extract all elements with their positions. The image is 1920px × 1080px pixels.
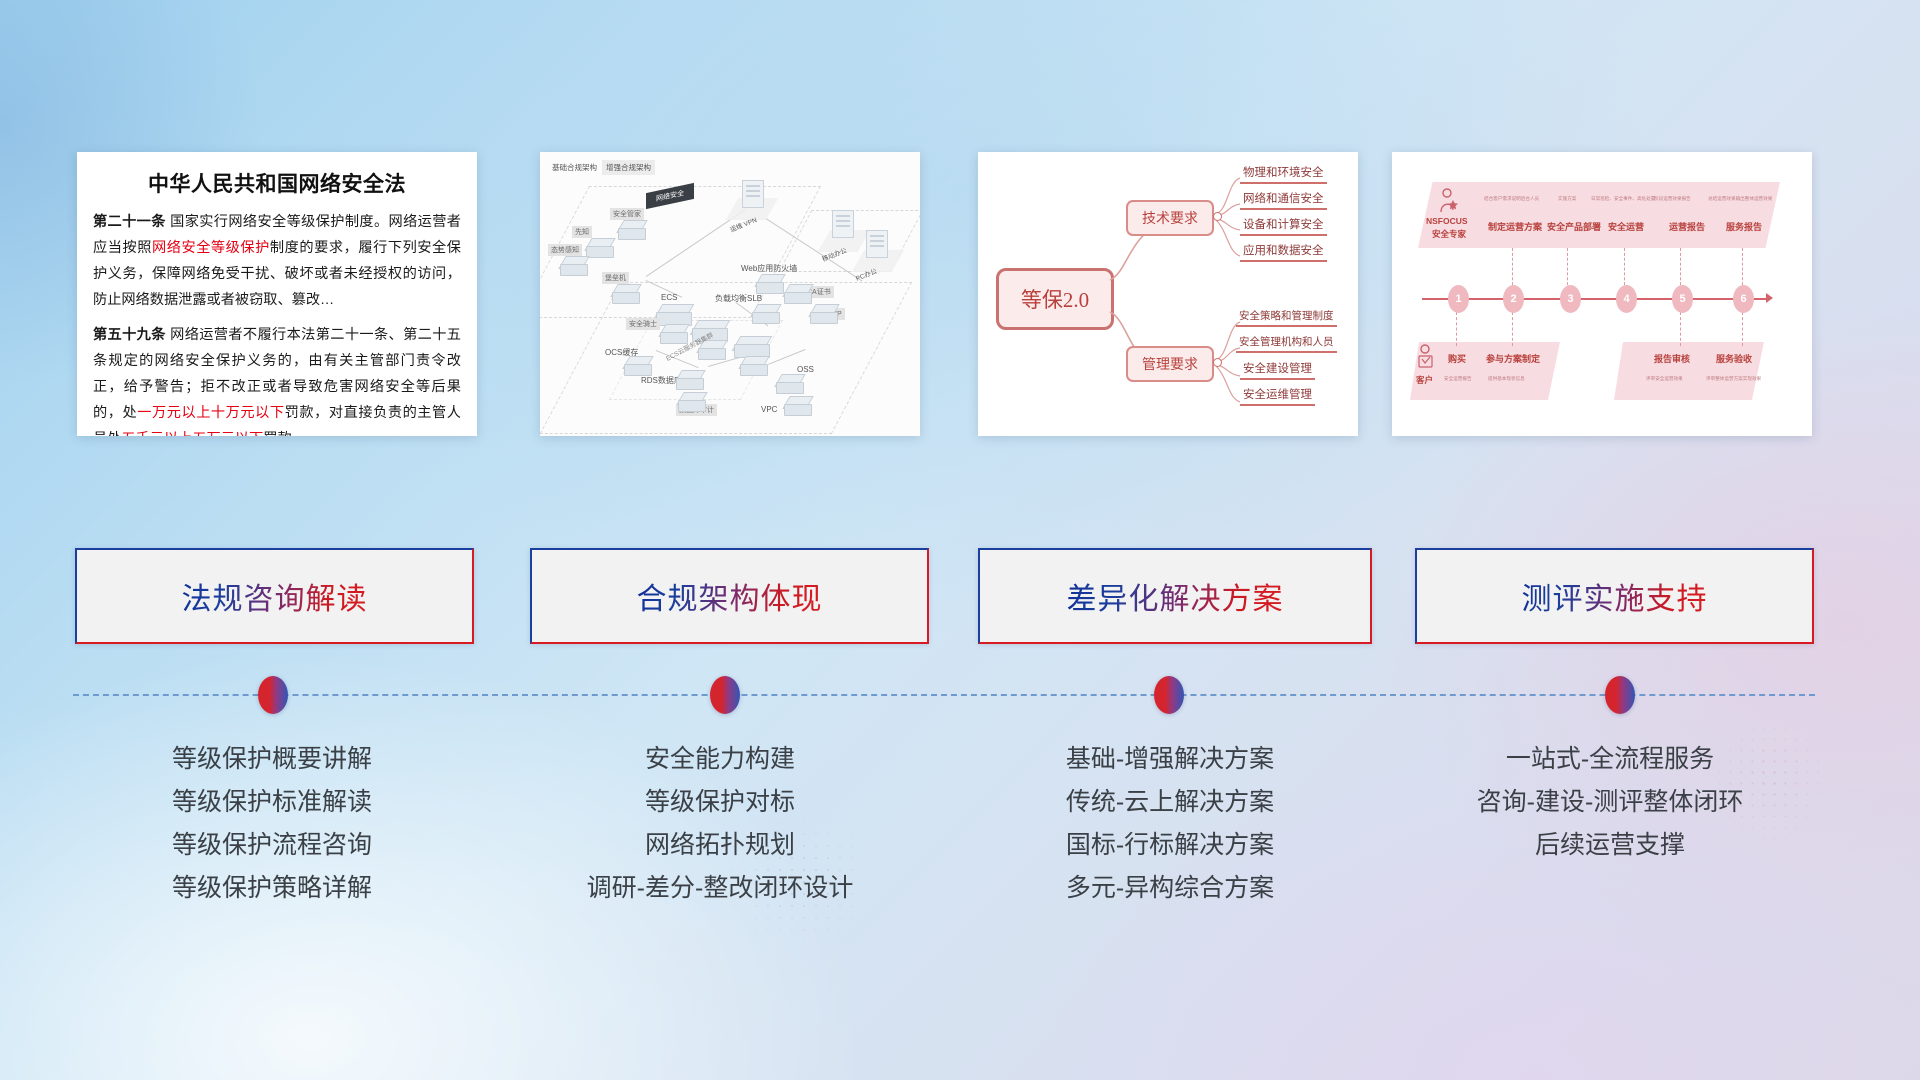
arch-node-cluster-d	[740, 356, 766, 376]
law-body: 第二十一条 国家实行网络安全等级保护制度。网络运营者应当按照网络安全等级保护制度…	[77, 210, 477, 436]
header-box-regulation-consulting[interactable]: 法规咨询解读	[75, 548, 474, 644]
list-item: 调研-差分-整改闭环设计	[510, 867, 930, 910]
header-box-assessment-support[interactable]: 测评实施支持	[1415, 548, 1814, 644]
mindmap: 等保2.0 技术要求 管理要求 物理和环境安全 网络和通信安全 设备和计算安全	[978, 152, 1358, 436]
arch-node-14	[784, 396, 810, 416]
header-label: 差异化解决方案	[1067, 574, 1284, 618]
flow-actor-name: NSFOCUS	[1426, 216, 1468, 226]
list-item: 多元-异构综合方案	[960, 867, 1380, 910]
flow-step-4: 4	[1616, 285, 1637, 313]
arch-label-3: 堡垒机	[602, 272, 629, 284]
timeline-dot-4	[1605, 676, 1635, 714]
flow-top-sub: 结合客户需求说明后台人员	[1484, 196, 1539, 202]
article-number-59: 第五十九条	[93, 327, 166, 343]
flow-bottom-sub: 提供基本现状信息	[1488, 376, 1525, 382]
column-list-1: 等级保护概要讲解 等级保护标准解读 等级保护流程咨询 等级保护策略详解	[62, 738, 482, 910]
arch-node-9	[756, 274, 782, 294]
flow-top-sub: 总结运营效果输出整体运营效果	[1708, 196, 1772, 202]
flow-bottom-sub: 评审整体运营方案实现效果	[1706, 376, 1761, 382]
list-item: 等级保护流程咨询	[62, 824, 482, 867]
timeline-dot-2	[710, 676, 740, 714]
list-item: 等级保护概要讲解	[62, 738, 482, 781]
flow-top-title: 运营报告	[1669, 220, 1705, 233]
header-label: 法规咨询解读	[182, 574, 368, 618]
arch-node-13	[776, 374, 802, 394]
flow-arrow-icon	[1766, 293, 1773, 303]
flow-actor-role: 安全专家	[1432, 228, 1466, 240]
flow-top-title: 安全运营	[1608, 220, 1644, 233]
flow-top-title: 安全产品部署	[1547, 220, 1601, 233]
flow-top-title: 服务报告	[1726, 220, 1762, 233]
list-item: 基础-增强解决方案	[960, 738, 1380, 781]
arch-node-12	[810, 304, 836, 324]
timeline-dashed-line	[73, 694, 1815, 696]
mindmap-leaf: 安全运维管理	[1240, 386, 1315, 406]
arch-node-11	[784, 284, 810, 304]
timeline-dot-3	[1154, 676, 1184, 714]
flow-bottom-sub: 安全运营报告	[1444, 376, 1472, 382]
column-list-4: 一站式-全流程服务 咨询-建设-测评整体闭环 后续运营支撑	[1400, 738, 1820, 867]
flow-step-6: 6	[1733, 285, 1754, 313]
arch-label-2: 态势感知	[548, 244, 582, 256]
flow-bottom-title: 参与方案制定	[1486, 352, 1540, 365]
arch-label-1: 先知	[572, 226, 592, 238]
law-seg-highlight: 五千元以上五万元以下	[121, 431, 263, 436]
mindmap-branch-management: 管理要求	[1126, 346, 1214, 382]
flow-top-title: 制定运营方案	[1488, 220, 1542, 233]
architecture-diagram: 基础合规架构 增强合规架构 网络安全 安全管家 先知 态势感知	[540, 152, 920, 436]
list-item: 咨询-建设-测评整体闭环	[1400, 781, 1820, 824]
law-seg: 罚款。	[263, 431, 306, 436]
card-dengbao-mindmap: 等保2.0 技术要求 管理要求 物理和环境安全 网络和通信安全 设备和计算安全	[978, 152, 1358, 436]
arch-node-8	[678, 392, 704, 412]
arch-node-2	[560, 256, 586, 276]
flow-step-5: 5	[1672, 285, 1693, 313]
list-item: 等级保护标准解读	[62, 781, 482, 824]
list-item: 等级保护策略详解	[62, 867, 482, 910]
timeline-dot-1	[258, 676, 288, 714]
mindmap-leaf: 应用和数据安全	[1240, 242, 1327, 262]
law-paragraph-59: 第五十九条 网络运营者不履行本法第二十一条、第二十五条规定的网络安全保护义务的，…	[93, 323, 461, 436]
law-paragraph-21: 第二十一条 国家实行网络安全等级保护制度。网络运营者应当按照网络安全等级保护制度…	[93, 210, 461, 313]
mindmap-collapse-dot-technical[interactable]	[1213, 212, 1222, 221]
flow-bottom-sub: 评审安全运营效果	[1646, 376, 1683, 382]
flow-tick	[1456, 312, 1457, 346]
arch-tab-basic[interactable]: 基础合规架构	[548, 160, 601, 175]
header-label: 合规架构体现	[637, 574, 823, 618]
mindmap-leaf: 设备和计算安全	[1240, 216, 1327, 236]
header-box-differentiated-solution[interactable]: 差异化解决方案	[978, 548, 1372, 644]
flow-tick	[1512, 248, 1513, 290]
mindmap-leaf: 安全策略和管理制度	[1236, 308, 1337, 327]
arch-server-pc	[866, 230, 888, 258]
flow-tick	[1680, 248, 1681, 290]
arch-node-5	[660, 324, 686, 344]
list-item: 网络拓扑规划	[510, 824, 930, 867]
arch-node-6	[624, 356, 650, 376]
arch-node-7	[676, 370, 702, 390]
arch-tab-enhanced[interactable]: 增强合规架构	[602, 160, 655, 175]
flow-top-sub: 阶段运营效果报告	[1654, 196, 1691, 202]
list-item: 一站式-全流程服务	[1400, 738, 1820, 781]
flow-band-top	[1418, 182, 1780, 248]
flow-tick	[1512, 312, 1513, 346]
arch-server-vpn	[742, 180, 764, 208]
header-label: 测评实施支持	[1522, 574, 1708, 618]
law-seg-highlight: 网络安全等级保护	[152, 240, 270, 256]
customer-person-icon	[1416, 344, 1436, 372]
card-assessment-flow: NSFOCUS 安全专家 结合客户需求说明后台人员 制定运营方案 实施方案 安全…	[1392, 152, 1812, 436]
mindmap-leaf: 物理和环境安全	[1240, 164, 1327, 184]
column-list-2: 安全能力构建 等级保护对标 网络拓扑规划 调研-差分-整改闭环设计	[510, 738, 930, 910]
mindmap-leaf: 网络和通信安全	[1240, 190, 1327, 210]
mindmap-leaf: 安全管理机构和人员	[1236, 334, 1337, 353]
expert-person-icon	[1438, 188, 1460, 214]
flow-tick	[1567, 248, 1568, 290]
arch-node-1	[586, 238, 612, 258]
flow-tick	[1680, 312, 1681, 346]
arch-server-mobile	[832, 210, 854, 238]
arch-label-0: 安全管家	[610, 208, 644, 220]
mindmap-collapse-dot-management[interactable]	[1213, 358, 1222, 367]
list-item: 传统-云上解决方案	[960, 781, 1380, 824]
flow-step-3: 3	[1560, 285, 1581, 313]
flow-tick	[1742, 248, 1743, 290]
card-compliance-architecture: 基础合规架构 增强合规架构 网络安全 安全管家 先知 态势感知	[540, 152, 920, 436]
arch-label-5: 安全骑士	[626, 318, 660, 330]
arch-label-14: VPC	[758, 404, 780, 415]
list-item: 等级保护对标	[510, 781, 930, 824]
mindmap-leaf: 安全建设管理	[1240, 360, 1315, 380]
arch-node-0	[618, 220, 644, 240]
law-title: 中华人民共和国网络安全法	[77, 168, 477, 198]
arch-label-4: ECS	[658, 292, 680, 303]
column-list-3: 基础-增强解决方案 传统-云上解决方案 国标-行标解决方案 多元-异构综合方案	[960, 738, 1380, 910]
flow-axis	[1422, 298, 1770, 300]
list-item: 安全能力构建	[510, 738, 930, 781]
arch-node-10	[752, 304, 778, 324]
flow-bottom-title: 服务验收	[1716, 352, 1752, 365]
flow-top-sub: 日常巡检、安全事件、高危处置	[1591, 196, 1655, 202]
flow-bottom-title: 购买	[1448, 352, 1466, 365]
flow-tick	[1742, 312, 1743, 346]
card-cybersecurity-law: 中华人民共和国网络安全法 第二十一条 国家实行网络安全等级保护制度。网络运营者应…	[77, 152, 477, 436]
mindmap-branch-technical: 技术要求	[1126, 200, 1214, 236]
list-item: 后续运营支撑	[1400, 824, 1820, 867]
arch-node-3	[612, 284, 638, 304]
flow-top-sub: 实施方案	[1558, 196, 1576, 202]
flow-tick	[1624, 248, 1625, 290]
flow-bottom-title: 报告审核	[1654, 352, 1690, 365]
law-seg-highlight: 一万元以上十万元以下	[137, 405, 284, 421]
header-box-compliance-architecture[interactable]: 合规架构体现	[530, 548, 929, 644]
list-item: 国标-行标解决方案	[960, 824, 1380, 867]
flow-actor-bottom-role: 客户	[1416, 374, 1433, 386]
flow-band-bottom-right	[1614, 342, 1764, 400]
article-number-21: 第二十一条	[93, 214, 166, 230]
flow-step-1: 1	[1448, 285, 1469, 313]
flow-step-2: 2	[1503, 285, 1524, 313]
flow-diagram: NSFOCUS 安全专家 结合客户需求说明后台人员 制定运营方案 实施方案 安全…	[1392, 152, 1812, 436]
